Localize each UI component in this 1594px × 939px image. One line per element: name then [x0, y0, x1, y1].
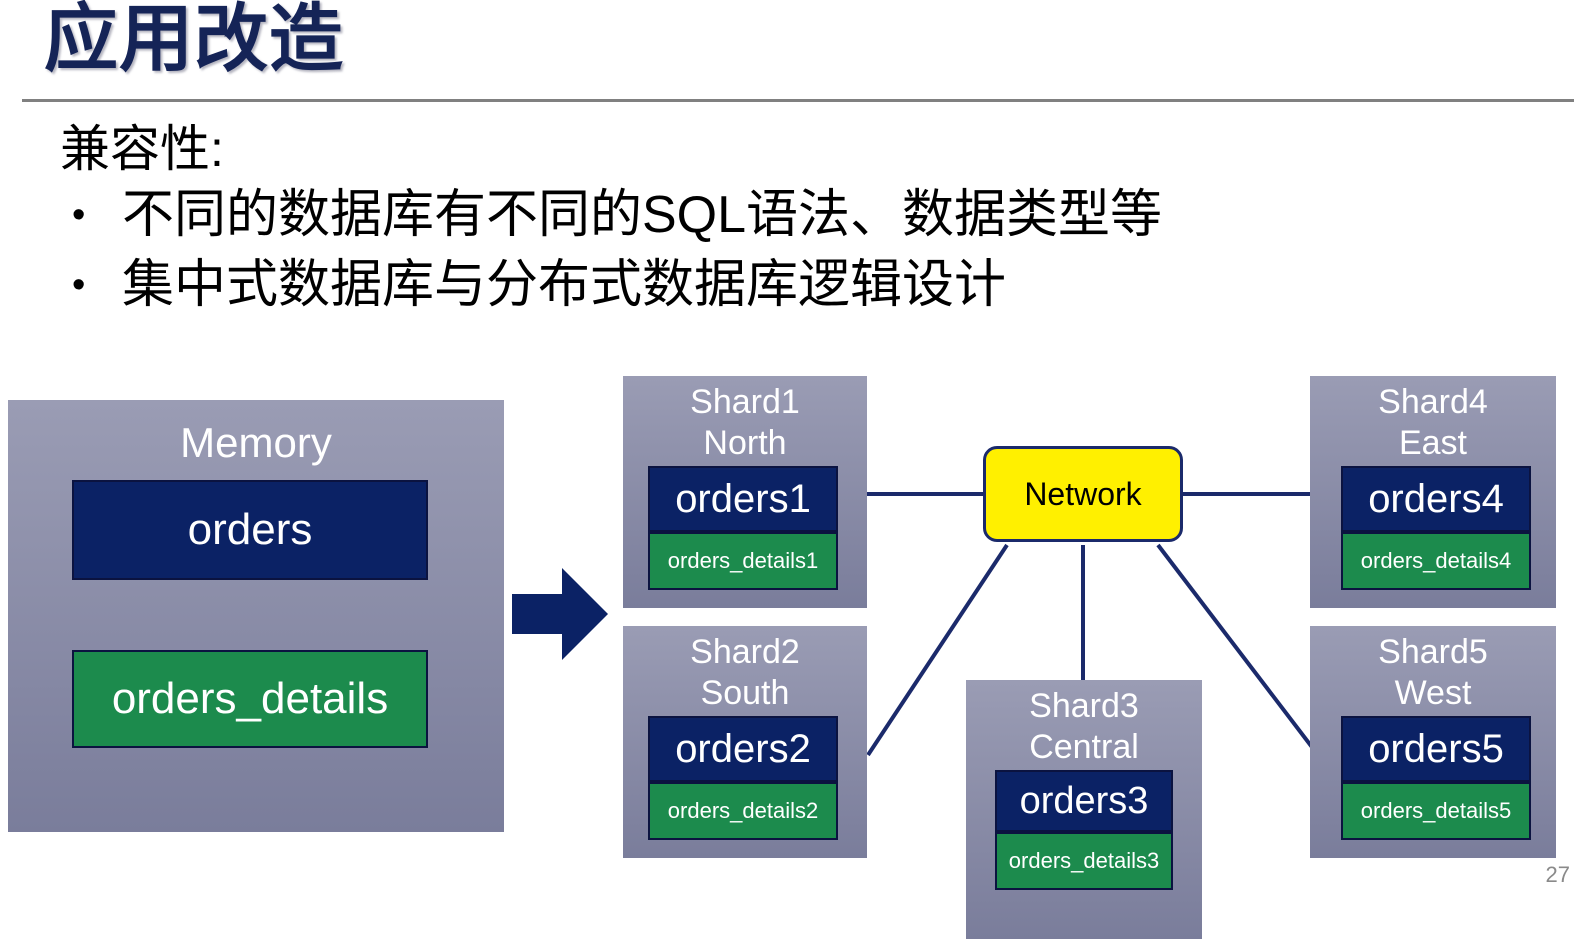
shard2-table-orders: orders2	[648, 716, 838, 782]
slide-canvas: 应用改造 兼容性: • 不同的数据库有不同的SQL语法、数据类型等 • 集中式数…	[0, 0, 1594, 939]
shard3-name: Shard3	[966, 680, 1202, 727]
shard3-region: Central	[966, 727, 1202, 768]
sharding-architecture-diagram: Memory orders orders_details Shard1 Nort…	[0, 0, 1594, 939]
shard4-region: East	[1310, 423, 1556, 464]
shard2-table-orders-details: orders_details2	[648, 782, 838, 840]
shard1-name: Shard1	[623, 376, 867, 423]
shard2-name: Shard2	[623, 626, 867, 673]
network-hub-node: Network	[983, 446, 1183, 542]
memory-table-orders: orders	[72, 480, 428, 580]
shard5-region: West	[1310, 673, 1556, 714]
shard1-table-orders-details: orders_details1	[648, 532, 838, 590]
shard5-name: Shard5	[1310, 626, 1556, 673]
right-arrow-icon	[512, 568, 608, 660]
shard3-table-orders-details: orders_details3	[995, 832, 1173, 890]
shard3-table-orders: orders3	[995, 770, 1173, 832]
memory-panel: Memory	[8, 400, 504, 832]
page-number: 27	[1546, 862, 1570, 888]
shard4-table-orders: orders4	[1341, 466, 1531, 532]
memory-table-orders-details: orders_details	[72, 650, 428, 748]
shard2-region: South	[623, 673, 867, 714]
memory-panel-title: Memory	[8, 400, 504, 468]
shard5-table-orders: orders5	[1341, 716, 1531, 782]
shard1-region: North	[623, 423, 867, 464]
shard4-name: Shard4	[1310, 376, 1556, 423]
shard4-table-orders-details: orders_details4	[1341, 532, 1531, 590]
shard5-table-orders-details: orders_details5	[1341, 782, 1531, 840]
shard1-table-orders: orders1	[648, 466, 838, 532]
